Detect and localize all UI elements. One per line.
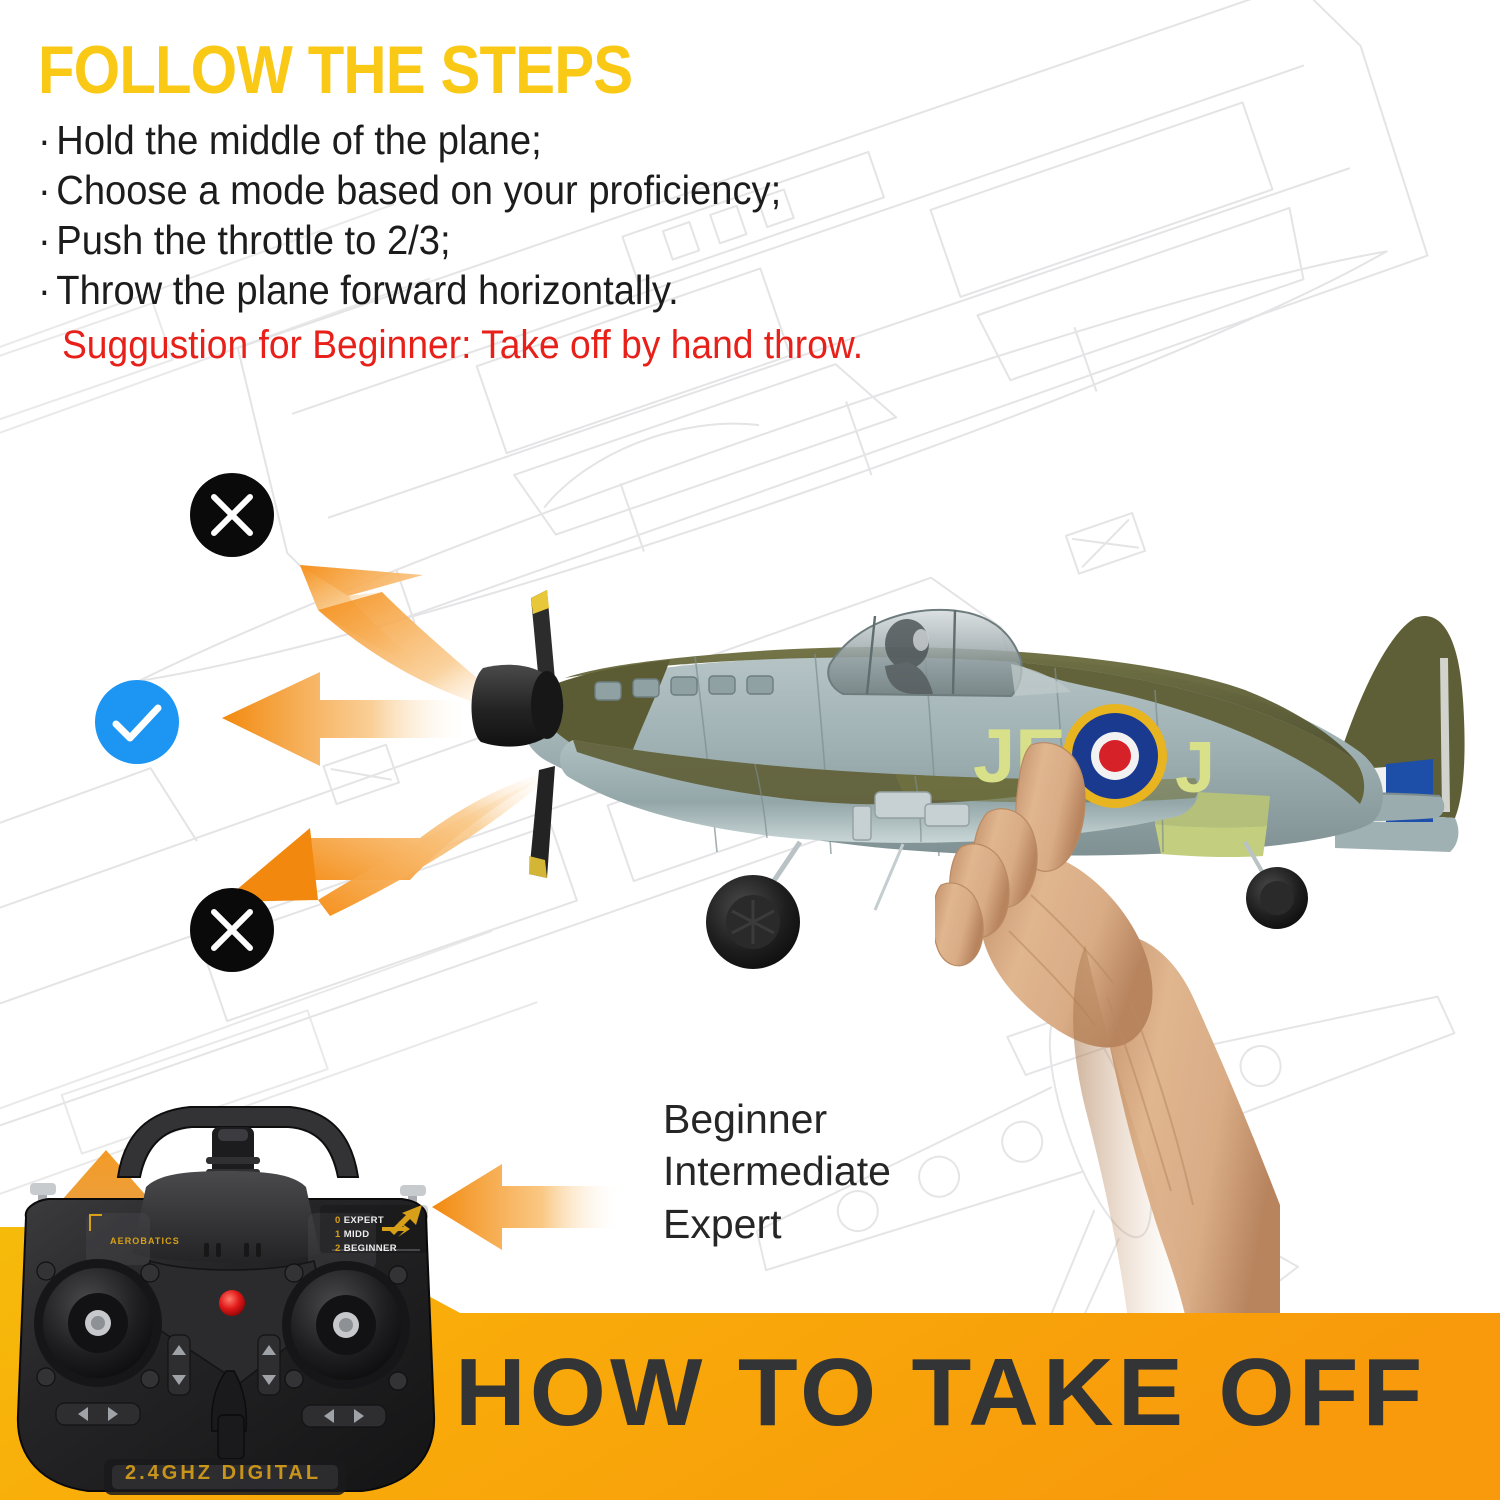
canopy bbox=[828, 610, 1071, 696]
bullet-dot: · bbox=[38, 265, 51, 315]
step-text: Throw the plane forward horizontally. bbox=[56, 267, 678, 313]
step-text: Choose a mode based on your proficiency; bbox=[56, 167, 781, 213]
bullet-dot: · bbox=[38, 215, 51, 265]
mode-switch-label: BEGINNER bbox=[344, 1243, 397, 1254]
headline-block: FOLLOW THE STEPS ·Hold the middle of the… bbox=[38, 38, 923, 369]
x-icon bbox=[190, 888, 274, 972]
mode-item-beginner: Beginner bbox=[663, 1093, 891, 1145]
mode-switch-row: 2BEGINNER bbox=[335, 1242, 397, 1256]
propeller bbox=[472, 590, 564, 878]
check-icon bbox=[95, 680, 179, 764]
mode-switch-number: 0 bbox=[335, 1215, 341, 1226]
aerobatics-label: AEROBATICS bbox=[110, 1236, 180, 1246]
bullet-dot: · bbox=[38, 115, 51, 165]
beginner-suggestion-note: Suggustion for Beginner: Take off by han… bbox=[62, 321, 863, 370]
transmitter-brand-label: 2.4GHZ DIGITAL bbox=[125, 1462, 321, 1485]
steps-list: ·Hold the middle of the plane; ·Choose a… bbox=[38, 115, 923, 315]
bullet-dot: · bbox=[38, 165, 51, 215]
power-led bbox=[219, 1290, 245, 1316]
mode-item-intermediate: Intermediate bbox=[663, 1145, 891, 1197]
mode-switch-number: 1 bbox=[335, 1229, 341, 1240]
marker-x-bottom bbox=[190, 888, 274, 972]
step-item: ·Choose a mode based on your proficiency… bbox=[38, 165, 861, 215]
step-item: ·Throw the plane forward horizontally. bbox=[38, 265, 861, 315]
mode-switch-label: MIDD bbox=[344, 1229, 370, 1240]
mode-switch-row: 1MIDD bbox=[335, 1228, 397, 1242]
mode-switch-label: EXPERT bbox=[344, 1215, 384, 1226]
page-title: FOLLOW THE STEPS bbox=[38, 38, 817, 103]
arrow-middle-straight bbox=[222, 672, 470, 766]
mode-switch-legend: 0EXPERT 1MIDD 2BEGINNER bbox=[335, 1214, 397, 1255]
infographic-page: FOLLOW THE STEPS ·Hold the middle of the… bbox=[0, 0, 1500, 1500]
banner-title: HOW TO TAKE OFF bbox=[455, 1338, 1426, 1448]
step-text: Hold the middle of the plane; bbox=[56, 117, 541, 163]
x-icon bbox=[190, 473, 274, 557]
step-item: ·Hold the middle of the plane; bbox=[38, 115, 861, 165]
rc-transmitter[interactable] bbox=[0, 1085, 460, 1500]
mode-switch-row: 0EXPERT bbox=[335, 1214, 397, 1228]
step-text: Push the throttle to 2/3; bbox=[56, 217, 450, 263]
marker-x-top bbox=[190, 473, 274, 557]
marker-check bbox=[95, 680, 179, 764]
mode-switch-number: 2 bbox=[335, 1243, 341, 1254]
step-item: ·Push the throttle to 2/3; bbox=[38, 215, 861, 265]
